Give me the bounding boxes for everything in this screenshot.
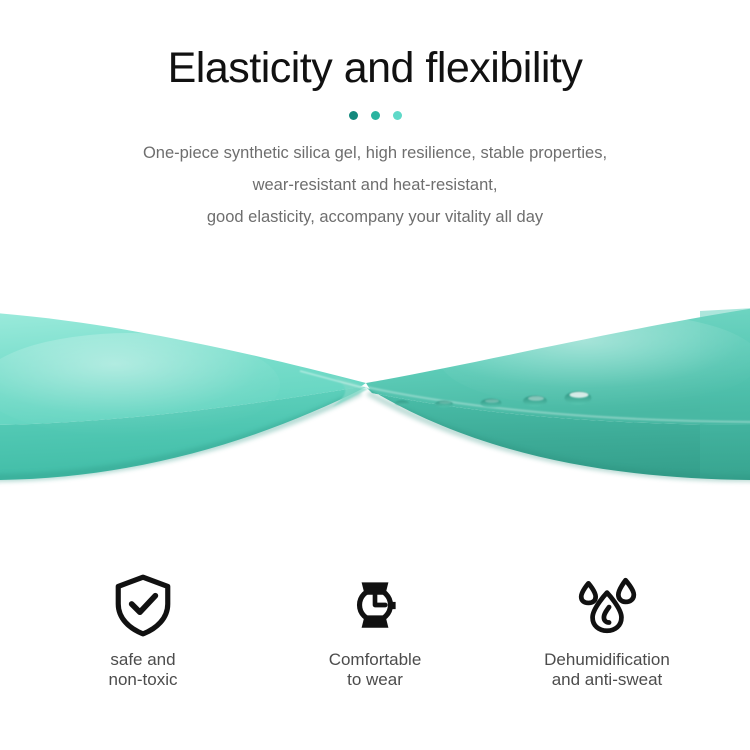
- water-droplets-icon: [574, 572, 640, 638]
- subtitle-line-1: One-piece synthetic silica gel, high res…: [0, 137, 750, 169]
- shield-check-icon: [110, 572, 176, 638]
- feature-label-line-2: to wear: [329, 670, 422, 690]
- feature-item-comfortable-to-wear: Comfortable to wear: [259, 572, 491, 690]
- band-right-sheen: [440, 312, 750, 408]
- subtitle-line-2: wear-resistant and heat-resistant,: [0, 169, 750, 201]
- band-hole-5: [565, 391, 592, 404]
- band-hole-4: [523, 396, 547, 407]
- feature-label-dehumidification: Dehumidification and anti-sweat: [544, 650, 670, 690]
- dot-dark: [349, 111, 358, 120]
- product-marketing-page: Elasticity and flexibility One-piece syn…: [0, 0, 750, 750]
- feature-label-line-2: and anti-sweat: [544, 670, 670, 690]
- feature-label-comfortable-to-wear: Comfortable to wear: [329, 650, 422, 690]
- header-section: Elasticity and flexibility One-piece syn…: [0, 0, 750, 234]
- band-hole-2: [435, 401, 453, 408]
- page-title: Elasticity and flexibility: [0, 46, 750, 91]
- feature-label-line-2: non-toxic: [109, 670, 178, 690]
- wristwatch-icon: [342, 572, 408, 638]
- feature-label-line-1: safe and: [109, 650, 178, 670]
- feature-label-line-1: Comfortable: [329, 650, 422, 670]
- twisted-band-illustration: [0, 275, 750, 515]
- product-image: [0, 275, 750, 515]
- feature-item-safe-non-toxic: safe and non-toxic: [27, 572, 259, 690]
- subtitle-block: One-piece synthetic silica gel, high res…: [0, 137, 750, 234]
- dot-separator: [0, 111, 750, 120]
- band-hole-3: [481, 399, 502, 408]
- feature-label-safe-non-toxic: safe and non-toxic: [109, 650, 178, 690]
- feature-item-dehumidification: Dehumidification and anti-sweat: [491, 572, 723, 690]
- feature-list: safe and non-toxic Comfortable to wear: [0, 572, 750, 690]
- feature-label-line-1: Dehumidification: [544, 650, 670, 670]
- dot-medium: [371, 111, 380, 120]
- dot-light: [393, 111, 402, 120]
- subtitle-line-3: good elasticity, accompany your vitality…: [0, 201, 750, 233]
